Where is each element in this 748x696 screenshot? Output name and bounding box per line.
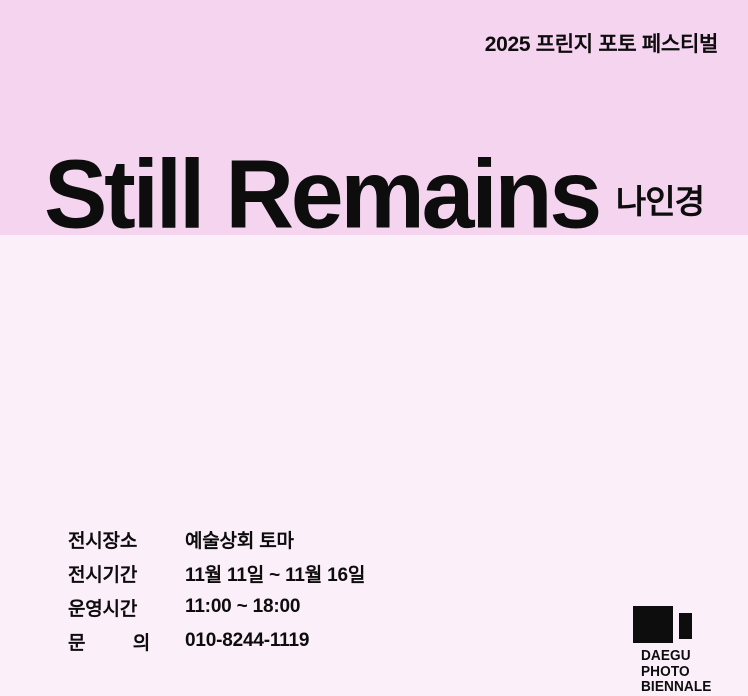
logo-line-2: PHOTO: [641, 665, 718, 681]
artist-name: 나인경: [616, 182, 704, 222]
top-color-band: 2025 프린지 포토 페스티벌 Still Remains 나인경: [0, 0, 748, 235]
table-row: 전시기간 11월 11일 ~ 11월 16일: [68, 556, 365, 590]
info-label-contact: 문 의: [68, 624, 185, 658]
exhibition-info-table: 전시장소 예술상회 토마 전시기간 11월 11일 ~ 11월 16일 운영시간…: [68, 522, 365, 658]
info-value-venue: 예술상회 토마: [185, 522, 365, 556]
logo-line-1: DAEGU: [641, 649, 718, 665]
table-row: 문 의 010-8244-1119: [68, 624, 365, 658]
daegu-photo-biennale-mark-icon: [633, 606, 699, 643]
poster: 2025 프린지 포토 페스티벌 Still Remains 나인경 전시장소 …: [0, 0, 748, 476]
logo-wordmark: DAEGU PHOTO BIENNALE: [641, 649, 718, 696]
info-label-hours: 운영시간: [68, 590, 185, 624]
table-row: 운영시간 11:00 ~ 18:00: [68, 590, 365, 624]
table-row: 전시장소 예술상회 토마: [68, 522, 365, 556]
festival-title: 2025 프린지 포토 페스티벌: [485, 28, 718, 58]
logo-square-small: [679, 613, 692, 639]
logo-line-3: BIENNALE: [641, 680, 718, 696]
bottom-color-band: 전시장소 예술상회 토마 전시기간 11월 11일 ~ 11월 16일 운영시간…: [0, 235, 748, 476]
info-value-hours: 11:00 ~ 18:00: [185, 590, 365, 624]
info-label-period: 전시기간: [68, 556, 185, 590]
info-value-contact: 010-8244-1119: [185, 624, 365, 658]
page-title: Still Remains: [44, 143, 599, 246]
info-value-period: 11월 11일 ~ 11월 16일: [185, 556, 365, 590]
daegu-photo-biennale-logo: DAEGU PHOTO BIENNALE: [633, 606, 723, 696]
info-label-venue: 전시장소: [68, 522, 185, 556]
logo-square-large: [633, 606, 673, 643]
